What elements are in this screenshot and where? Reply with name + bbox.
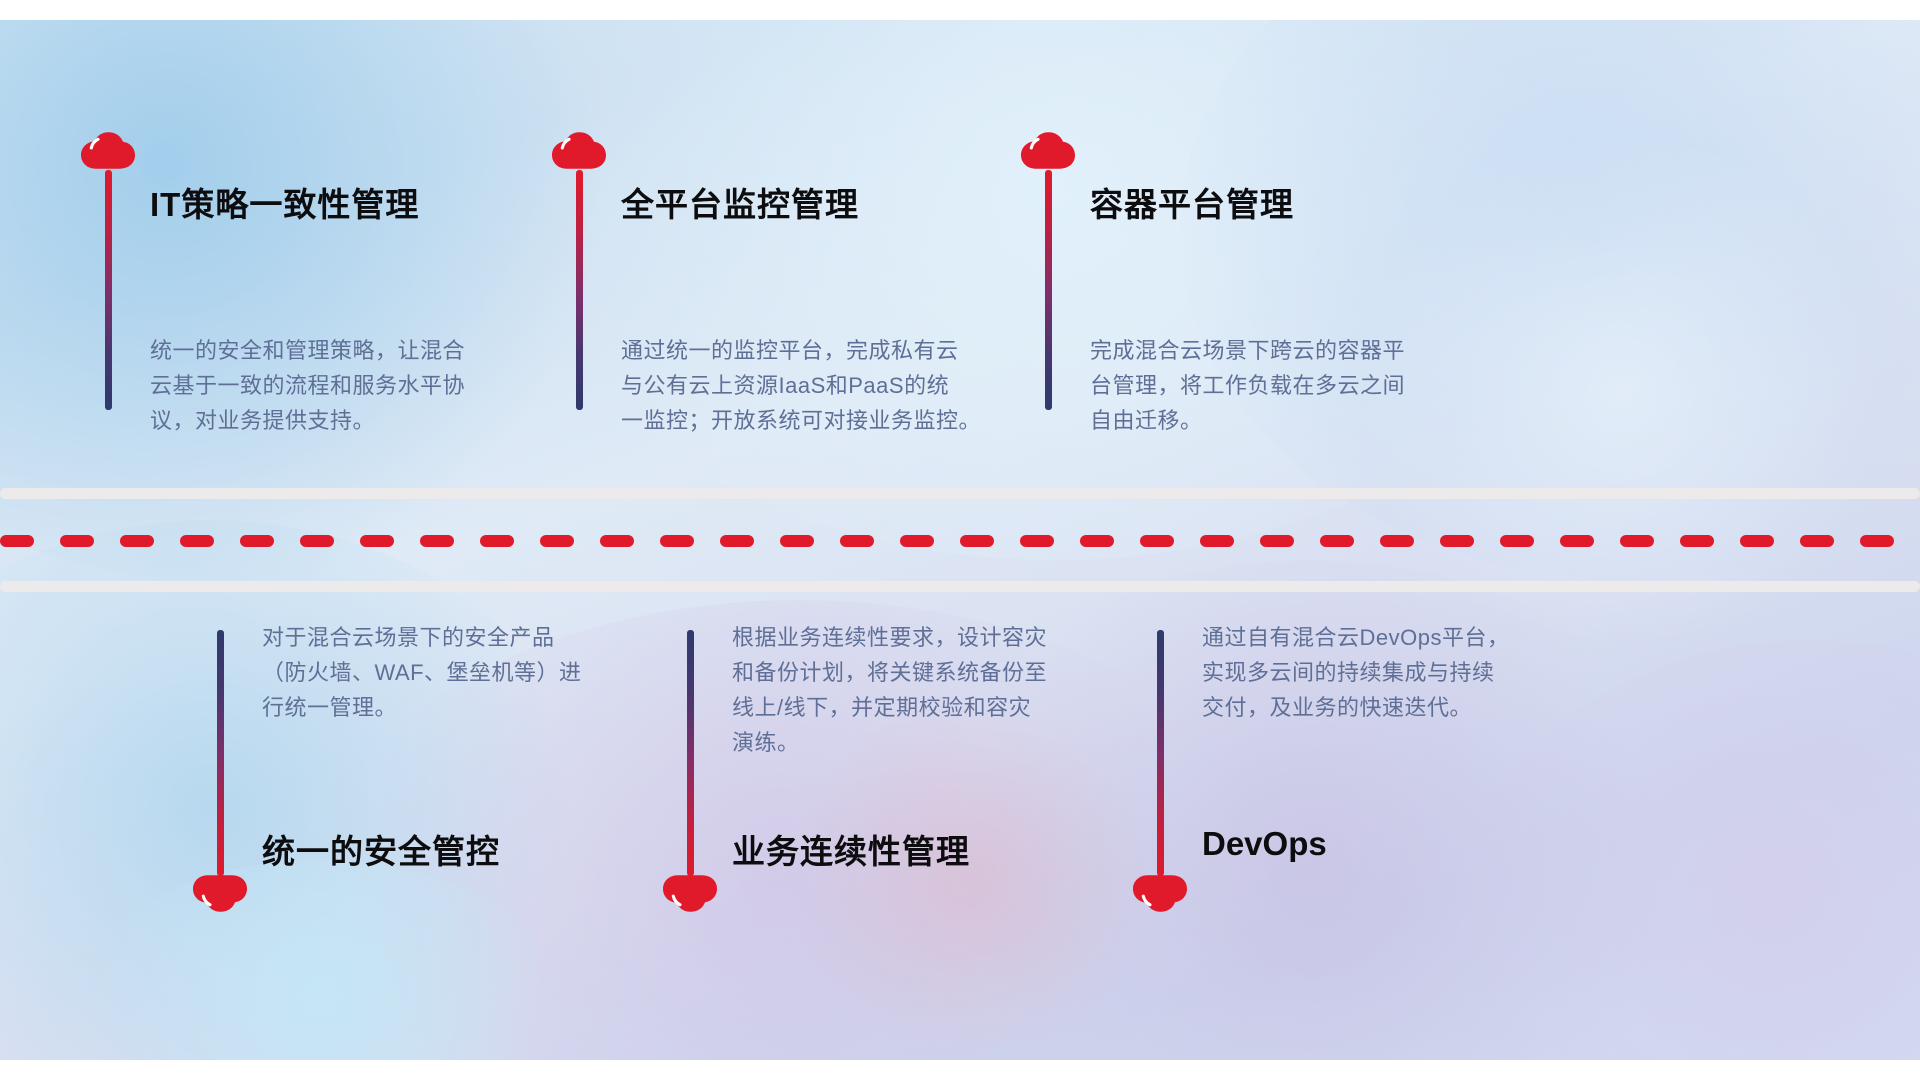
top-white-band bbox=[0, 0, 1920, 20]
feature-title: IT策略一致性管理 bbox=[150, 178, 419, 226]
divider-dash bbox=[480, 535, 514, 547]
divider-dash bbox=[840, 535, 874, 547]
divider-dash bbox=[180, 535, 214, 547]
divider-dash bbox=[900, 535, 934, 547]
divider-dash bbox=[60, 535, 94, 547]
feature-description: 完成混合云场景下跨云的容器平 台管理，将工作负载在多云之间 自由迁移。 bbox=[1090, 333, 1405, 438]
divider-dash bbox=[1560, 535, 1594, 547]
divider-dash bbox=[1800, 535, 1834, 547]
divider-dash bbox=[1860, 535, 1894, 547]
feature-description: 通过统一的监控平台，完成私有云 与公有云上资源IaaS和PaaS的统 一监控；开… bbox=[621, 333, 981, 438]
connector-stem bbox=[687, 630, 694, 876]
divider-dash bbox=[660, 535, 694, 547]
connector-stem bbox=[217, 630, 224, 876]
divider-dash bbox=[1200, 535, 1234, 547]
divider-dash bbox=[540, 535, 574, 547]
divider-dash bbox=[1260, 535, 1294, 547]
feature-title: 容器平台管理 bbox=[1090, 178, 1294, 226]
cloud-icon bbox=[1130, 868, 1190, 914]
connector-stem bbox=[105, 170, 112, 410]
divider-dash bbox=[240, 535, 274, 547]
feature-title: 统一的安全管控 bbox=[262, 825, 500, 873]
divider-dash bbox=[1080, 535, 1114, 547]
feature-card-platform-monitoring: 全平台监控管理 通过统一的监控平台，完成私有云 与公有云上资源IaaS和PaaS… bbox=[549, 130, 1009, 430]
divider-dash bbox=[1740, 535, 1774, 547]
bottom-white-band bbox=[0, 1060, 1920, 1080]
divider-dash bbox=[1140, 535, 1174, 547]
feature-description: 通过自有混合云DevOps平台， 实现多云间的持续集成与持续 交付，及业务的快速… bbox=[1202, 620, 1509, 725]
divider-dash bbox=[1620, 535, 1654, 547]
divider-dash bbox=[1320, 535, 1354, 547]
cloud-icon bbox=[190, 868, 250, 914]
divider-dash bbox=[420, 535, 454, 547]
connector-stem bbox=[1045, 170, 1052, 410]
divider-dash bbox=[600, 535, 634, 547]
connector-stem bbox=[576, 170, 583, 410]
feature-card-container-platform: 容器平台管理 完成混合云场景下跨云的容器平 台管理，将工作负载在多云之间 自由迁… bbox=[1018, 130, 1458, 430]
infographic-canvas: IT策略一致性管理 统一的安全和管理策略，让混合 云基于一致的流程和服务水平协 … bbox=[0, 0, 1920, 1080]
divider-dash bbox=[1380, 535, 1414, 547]
feature-card-devops: 通过自有混合云DevOps平台， 实现多云间的持续集成与持续 交付，及业务的快速… bbox=[1130, 620, 1570, 920]
connector-stem bbox=[1157, 630, 1164, 876]
divider-dashed-line bbox=[0, 535, 1920, 547]
feature-description: 对于混合云场景下的安全产品 （防火墙、WAF、堡垒机等）进 行统一管理。 bbox=[262, 620, 582, 725]
divider-dash bbox=[1500, 535, 1534, 547]
cloud-icon bbox=[660, 868, 720, 914]
divider-dash bbox=[720, 535, 754, 547]
divider-dash bbox=[780, 535, 814, 547]
divider-dash bbox=[1440, 535, 1474, 547]
divider-dash bbox=[1680, 535, 1714, 547]
feature-card-unified-security: 对于混合云场景下的安全产品 （防火墙、WAF、堡垒机等）进 行统一管理。 统一的… bbox=[190, 620, 630, 920]
feature-title: 全平台监控管理 bbox=[621, 178, 859, 226]
feature-description: 根据业务连续性要求，设计容灾 和备份计划，将关键系统备份至 线上/线下，并定期校… bbox=[732, 620, 1047, 760]
feature-card-business-continuity: 根据业务连续性要求，设计容灾 和备份计划，将关键系统备份至 线上/线下，并定期校… bbox=[660, 620, 1100, 920]
divider-dash bbox=[300, 535, 334, 547]
divider-dash bbox=[360, 535, 394, 547]
feature-title: DevOps bbox=[1202, 825, 1327, 863]
feature-card-it-policy: IT策略一致性管理 统一的安全和管理策略，让混合 云基于一致的流程和服务水平协 … bbox=[78, 130, 518, 430]
divider-dash bbox=[960, 535, 994, 547]
divider-dash bbox=[1020, 535, 1054, 547]
divider-dash bbox=[0, 535, 34, 547]
divider-dash bbox=[120, 535, 154, 547]
feature-description: 统一的安全和管理策略，让混合 云基于一致的流程和服务水平协 议，对业务提供支持。 bbox=[150, 333, 465, 438]
divider-rail-top bbox=[0, 488, 1920, 499]
section-divider bbox=[0, 488, 1920, 592]
feature-title: 业务连续性管理 bbox=[732, 825, 970, 873]
divider-rail-bottom bbox=[0, 581, 1920, 592]
